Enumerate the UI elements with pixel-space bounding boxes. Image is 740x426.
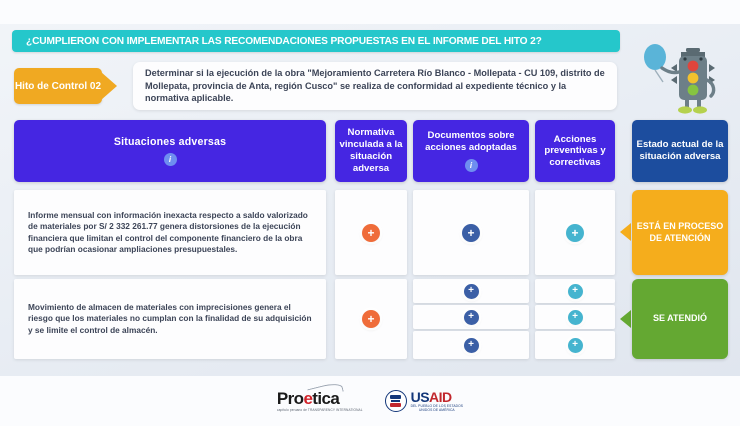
table-cell-documentos: + xyxy=(413,331,529,359)
add-documento-button[interactable]: + xyxy=(462,224,480,242)
table-row: Movimiento de almacen de materiales con … xyxy=(14,279,326,359)
traffic-light-mascot xyxy=(641,38,737,118)
column-header-normativa: Normativa vinculada a la situación adver… xyxy=(335,120,407,182)
column-header-label: Estado actual de la situación adversa xyxy=(632,139,728,163)
column-header-documentos: Documentos sobre acciones adoptadas i xyxy=(413,120,529,182)
usaid-word-us: US xyxy=(411,389,429,405)
column-header-estado-actual: Estado actual de la situación adversa xyxy=(632,120,728,182)
slide-canvas: ¿CUMPLIERON CON IMPLEMENTAR LAS RECOMEND… xyxy=(0,0,740,426)
add-documento-button[interactable]: + xyxy=(464,284,479,299)
proetica-word-a: Pro xyxy=(277,389,304,408)
usaid-logo: USAID DEL PUEBLO DE LOS ESTADOS UNIDOS D… xyxy=(385,390,464,413)
table-cell-documentos: + xyxy=(413,190,529,275)
add-normativa-button[interactable]: + xyxy=(362,310,380,328)
table-cell-acciones: + xyxy=(535,279,615,303)
objective-box: Determinar si la ejecución de la obra "M… xyxy=(133,62,617,110)
usaid-tagline-line2: UNIDOS DE AMÉRICA xyxy=(411,408,464,412)
table-cell-acciones: + xyxy=(535,190,615,275)
objective-text: Determinar si la ejecución de la obra "M… xyxy=(133,67,617,104)
info-icon[interactable]: i xyxy=(465,159,478,172)
hito-control-tag: Hito de Control 02 xyxy=(14,68,102,104)
top-strip xyxy=(0,0,740,24)
status-badge-label: SE ATENDIÓ xyxy=(653,313,707,325)
add-accion-button[interactable]: + xyxy=(568,310,583,325)
status-arrow-icon xyxy=(620,223,631,241)
proetica-tagline-text: capítulo peruano de TRANSPARENCY INTERNA… xyxy=(277,408,363,412)
add-accion-button[interactable]: + xyxy=(568,338,583,353)
add-documento-button[interactable]: + xyxy=(464,310,479,325)
proetica-wordmark: Proetica xyxy=(277,390,339,407)
column-header-label: Normativa vinculada a la situación adver… xyxy=(335,127,407,175)
add-accion-button[interactable]: + xyxy=(566,224,584,242)
hito-control-label: Hito de Control 02 xyxy=(15,80,101,93)
usaid-word-aid: AID xyxy=(429,389,452,405)
proetica-logo: Proetica capítulo peruano de TRANSPARENC… xyxy=(277,390,363,412)
table-row: Informe mensual con información inexacta… xyxy=(14,190,326,275)
add-normativa-button[interactable]: + xyxy=(362,224,380,242)
usaid-text-block: USAID DEL PUEBLO DE LOS ESTADOS UNIDOS D… xyxy=(411,390,464,413)
hito-arrow-icon xyxy=(101,72,117,100)
usaid-seal-icon xyxy=(385,390,407,412)
column-header-label: Acciones preventivas y correctivas xyxy=(535,134,615,169)
title-banner: ¿CUMPLIERON CON IMPLEMENTAR LAS RECOMEND… xyxy=(12,30,620,52)
info-icon[interactable]: i xyxy=(164,153,177,166)
table-cell-acciones: + xyxy=(535,305,615,329)
table-cell-acciones: + xyxy=(535,331,615,359)
status-arrow-icon xyxy=(620,310,631,328)
situacion-adversa-text: Informe mensual con información inexacta… xyxy=(14,210,326,256)
table-cell-documentos: + xyxy=(413,305,529,329)
column-header-acciones: Acciones preventivas y correctivas xyxy=(535,120,615,182)
status-badge-label: ESTÁ EN PROCESO DE ATENCIÓN xyxy=(632,221,728,244)
add-accion-button[interactable]: + xyxy=(568,284,583,299)
usaid-wordmark: USAID xyxy=(411,390,464,404)
table-cell-documentos: + xyxy=(413,279,529,303)
table-cell-normativa: + xyxy=(335,279,407,359)
column-header-situaciones-adversas: Situaciones adversas i xyxy=(14,120,326,182)
add-documento-button[interactable]: + xyxy=(464,338,479,353)
table-cell-normativa: + xyxy=(335,190,407,275)
column-header-label: Situaciones adversas xyxy=(114,136,226,148)
situacion-adversa-text: Movimiento de almacen de materiales con … xyxy=(14,302,326,336)
column-header-label: Documentos sobre acciones adoptadas xyxy=(413,130,529,154)
status-badge: SE ATENDIÓ xyxy=(632,279,728,359)
proetica-tagline: capítulo peruano de TRANSPARENCY INTERNA… xyxy=(277,408,363,412)
title-banner-text: ¿CUMPLIERON CON IMPLEMENTAR LAS RECOMEND… xyxy=(12,36,542,47)
footer-logos: Proetica capítulo peruano de TRANSPARENC… xyxy=(0,376,740,426)
status-badge: ESTÁ EN PROCESO DE ATENCIÓN xyxy=(632,190,728,275)
